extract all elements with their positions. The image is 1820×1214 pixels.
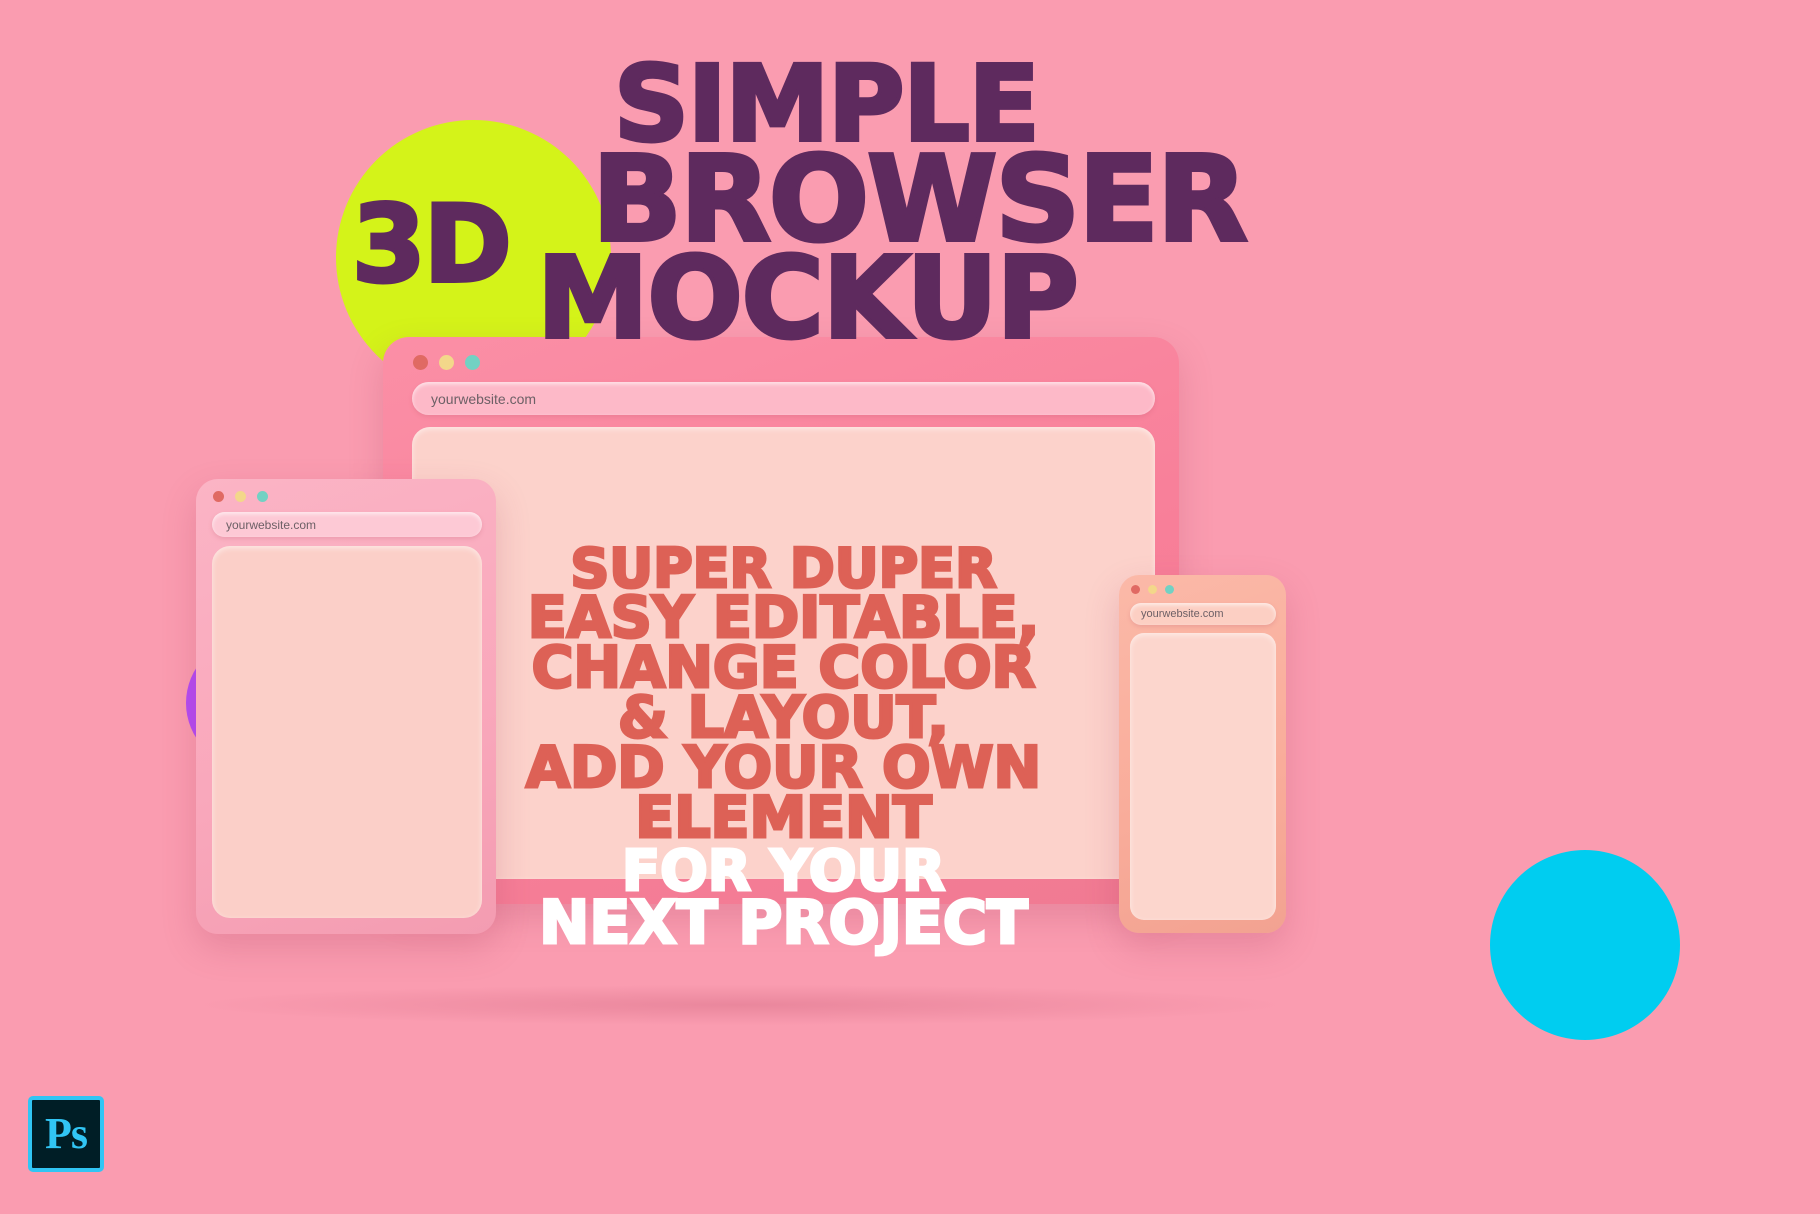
close-dot-icon[interactable] xyxy=(413,355,428,370)
maximize-dot-icon[interactable] xyxy=(465,355,480,370)
tablet-viewport xyxy=(212,546,482,918)
photoshop-badge-label: Ps xyxy=(45,1112,87,1156)
viewport-copy-block: SUPER DUPER EASY EDITABLE, CHANGE COLOR … xyxy=(412,545,1155,949)
minimize-dot-icon[interactable] xyxy=(235,491,246,502)
tablet-traffic-lights xyxy=(213,491,268,502)
browser-window-mobile[interactable]: yourwebsite.com xyxy=(1119,575,1286,933)
close-dot-icon[interactable] xyxy=(213,491,224,502)
tablet-address-bar[interactable]: yourwebsite.com xyxy=(212,512,482,537)
copy-line-3: CHANGE COLOR xyxy=(412,643,1155,693)
ground-shadow xyxy=(200,985,1280,1025)
mobile-traffic-lights xyxy=(1131,585,1174,594)
copy-line-8: NEXT PROJECT xyxy=(412,897,1155,950)
copy-line-1: SUPER DUPER xyxy=(412,545,1155,593)
copy-line-7: FOR YOUR xyxy=(412,847,1155,896)
desktop-viewport: SUPER DUPER EASY EDITABLE, CHANGE COLOR … xyxy=(412,427,1155,879)
close-dot-icon[interactable] xyxy=(1131,585,1140,594)
mobile-address-bar[interactable]: yourwebsite.com xyxy=(1130,603,1276,625)
photoshop-badge-icon: Ps xyxy=(28,1096,104,1172)
browser-window-desktop[interactable]: yourwebsite.com SUPER DUPER EASY EDITABL… xyxy=(383,337,1179,904)
minimize-dot-icon[interactable] xyxy=(1148,585,1157,594)
desktop-address-bar[interactable]: yourwebsite.com xyxy=(412,382,1155,415)
minimize-dot-icon[interactable] xyxy=(439,355,454,370)
desktop-window-frame: yourwebsite.com SUPER DUPER EASY EDITABL… xyxy=(383,337,1179,904)
mobile-viewport xyxy=(1130,633,1276,920)
tablet-window-frame: yourwebsite.com xyxy=(196,479,496,934)
mobile-url-text: yourwebsite.com xyxy=(1141,608,1224,620)
mobile-window-frame: yourwebsite.com xyxy=(1119,575,1286,933)
cyan-circle-decoration xyxy=(1490,850,1680,1040)
copy-line-4: & LAYOUT, xyxy=(412,693,1155,743)
desktop-url-text: yourwebsite.com xyxy=(431,391,536,407)
browser-window-tablet[interactable]: yourwebsite.com xyxy=(196,479,496,934)
maximize-dot-icon[interactable] xyxy=(1165,585,1174,594)
copy-line-2: EASY EDITABLE, xyxy=(412,593,1155,643)
desktop-traffic-lights xyxy=(413,355,480,370)
tablet-url-text: yourwebsite.com xyxy=(226,518,316,532)
copy-line-6: ELEMENT xyxy=(412,793,1155,843)
copy-line-5: ADD YOUR OWN xyxy=(412,743,1155,793)
maximize-dot-icon[interactable] xyxy=(257,491,268,502)
